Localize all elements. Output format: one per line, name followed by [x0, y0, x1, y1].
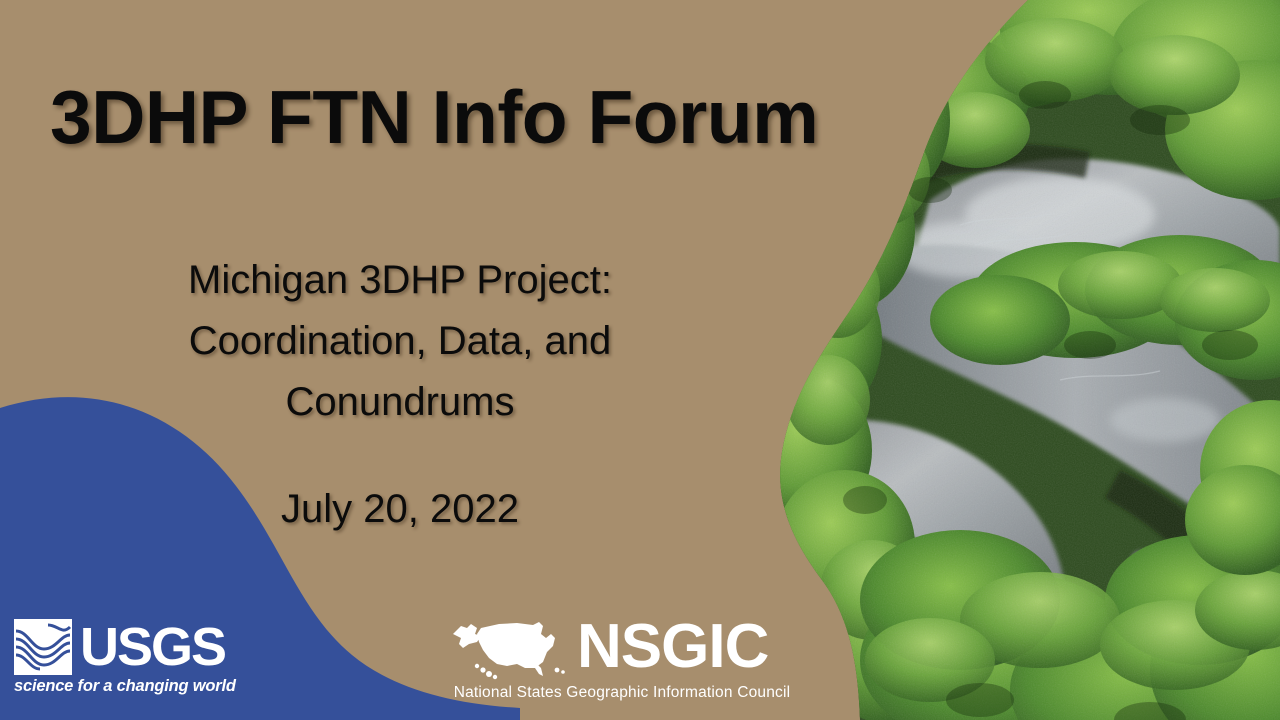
- usgs-tagline: science for a changing world: [14, 677, 244, 696]
- slide-text-block: 3DHP FTN Info Forum Michigan 3DHP Projec…: [0, 0, 880, 600]
- slide-subtitle: Michigan 3DHP Project: Coordination, Dat…: [60, 250, 740, 432]
- nsgic-tagline: National States Geographic Information C…: [447, 684, 797, 702]
- usgs-wordmark: USGS: [80, 620, 225, 674]
- page-title: 3DHP FTN Info Forum: [50, 78, 840, 157]
- presentation-slide: 3DHP FTN Info Forum Michigan 3DHP Projec…: [0, 0, 1280, 720]
- slide-date: July 20, 2022: [60, 487, 740, 532]
- usgs-wave-icon: [14, 619, 72, 675]
- nsgic-wordmark: NSGIC: [577, 616, 768, 678]
- united-states-map-icon: [447, 612, 571, 682]
- subtitle-line-2: Coordination, Data, and: [60, 311, 740, 372]
- usgs-logo-row: USGS: [14, 618, 244, 676]
- usgs-logo: USGS science for a changing world: [14, 618, 244, 698]
- nsgic-logo: NSGIC National States Geographic Informa…: [447, 612, 797, 710]
- nsgic-logo-row: NSGIC: [447, 612, 797, 682]
- subtitle-line-3: Conundrums: [60, 372, 740, 433]
- subtitle-line-1: Michigan 3DHP Project:: [60, 250, 740, 311]
